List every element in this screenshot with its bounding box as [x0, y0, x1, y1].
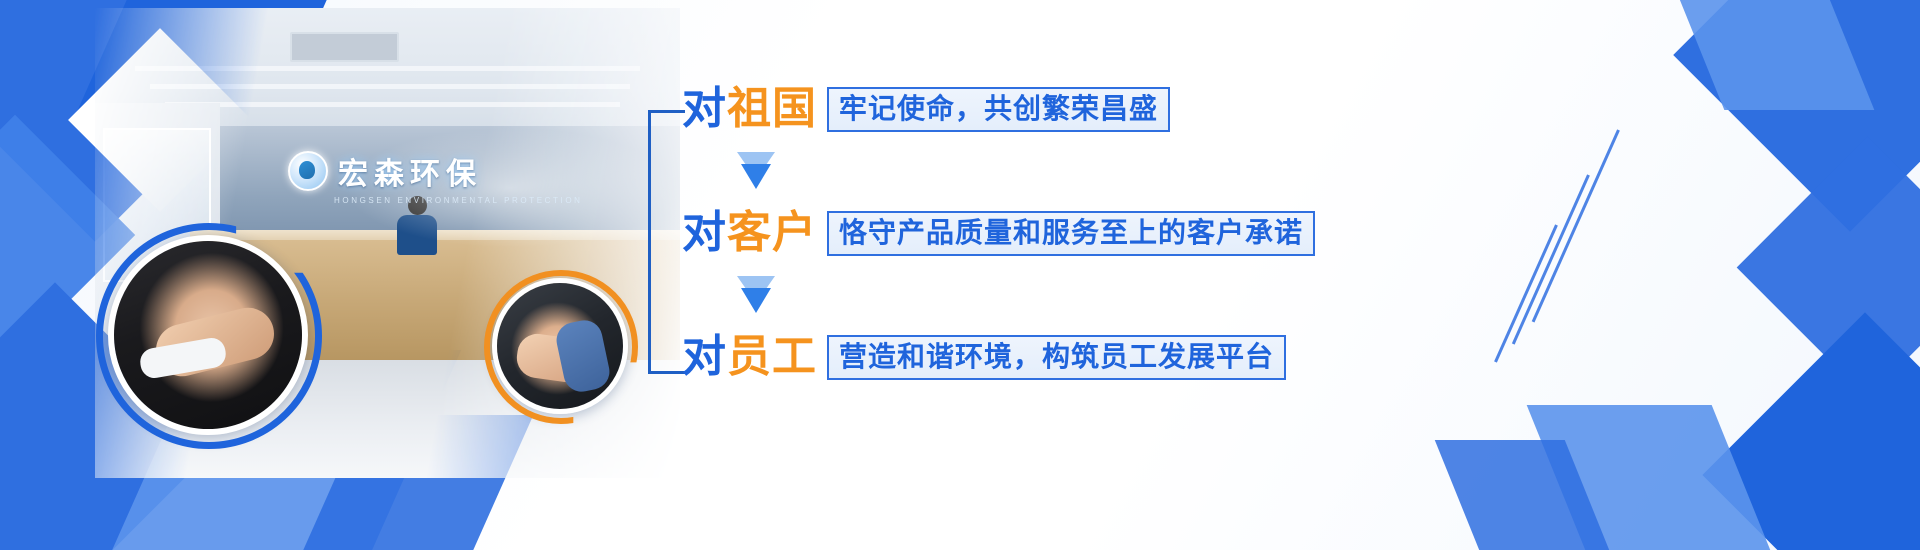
- slogan-prefix: 对: [682, 84, 727, 133]
- globe-leaf-logo-icon: [288, 151, 328, 191]
- slogan-statement-customer: 恪守产品质量和服务至上的客户承诺: [827, 211, 1315, 256]
- decor-blue-diamond-mid-right: [1737, 137, 1920, 399]
- photo-ceiling-vent: [290, 32, 399, 62]
- slogan-label-customer: 对客户: [682, 211, 817, 255]
- down-arrow-bottom: [741, 164, 771, 189]
- slogan-arrow-gap-2: [682, 264, 1348, 326]
- decor-diagonal-line: [1494, 224, 1558, 362]
- photo-ceiling-slat: [150, 84, 630, 89]
- slogan-label-country: 对祖国: [682, 87, 817, 131]
- decor-blue-parallelogram-bottom-right: [1527, 405, 1779, 550]
- slogan-row-customer: 对客户 恪守产品质量和服务至上的客户承诺: [682, 202, 1348, 264]
- down-arrow-top: [737, 152, 775, 164]
- slogan-prefix: 对: [682, 332, 727, 381]
- down-arrow-bottom: [741, 288, 771, 313]
- slogan-block: 对祖国 牢记使命，共创繁荣昌盛 对客户 恪守产品质量和服务至上的客户承诺: [648, 78, 1348, 398]
- company-logo-subtitle: HONGSEN ENVIRONMENTAL PROTECTION: [334, 196, 583, 205]
- slogan-object: 员工: [727, 332, 817, 381]
- down-arrow-top: [737, 276, 775, 288]
- slogan-statement-employee: 营造和谐环境，构筑员工发展平台: [827, 335, 1286, 380]
- decor-blue-diamond-top-right: [1673, 0, 1920, 232]
- company-logo-text: 宏森环保: [338, 149, 482, 193]
- decor-diagonal-line: [1512, 174, 1590, 344]
- slogan-bracket: [648, 110, 685, 374]
- decor-diagonal-line: [1532, 129, 1620, 322]
- slogan-label-employee: 对员工: [682, 335, 817, 379]
- slogan-object: 客户: [727, 208, 817, 257]
- slogan-object: 祖国: [727, 84, 817, 133]
- decor-blue-diamond-bottom-right: [1702, 312, 1920, 550]
- company-culture-banner: 宏森环保 HONGSEN ENVIRONMENTAL PROTECTION 对祖…: [0, 0, 1920, 550]
- slogan-arrow-gap-1: [682, 140, 1348, 202]
- slogan-rows: 对祖国 牢记使命，共创繁荣昌盛 对客户 恪守产品质量和服务至上的客户承诺: [682, 78, 1348, 388]
- slogan-row-employee: 对员工 营造和谐环境，构筑员工发展平台: [682, 326, 1348, 388]
- decor-blue-parallelogram-bottom-right-2: [1435, 440, 1616, 550]
- photo-ceiling-slat: [135, 66, 640, 71]
- slogan-statement-country: 牢记使命，共创繁荣昌盛: [827, 87, 1170, 132]
- company-logo: 宏森环保: [288, 140, 578, 202]
- decor-blue-parallelogram-top-right: [1656, 0, 1875, 110]
- slogan-row-country: 对祖国 牢记使命，共创繁荣昌盛: [682, 78, 1348, 140]
- slogan-prefix: 对: [682, 208, 727, 257]
- photo-ceiling-slat: [165, 102, 620, 107]
